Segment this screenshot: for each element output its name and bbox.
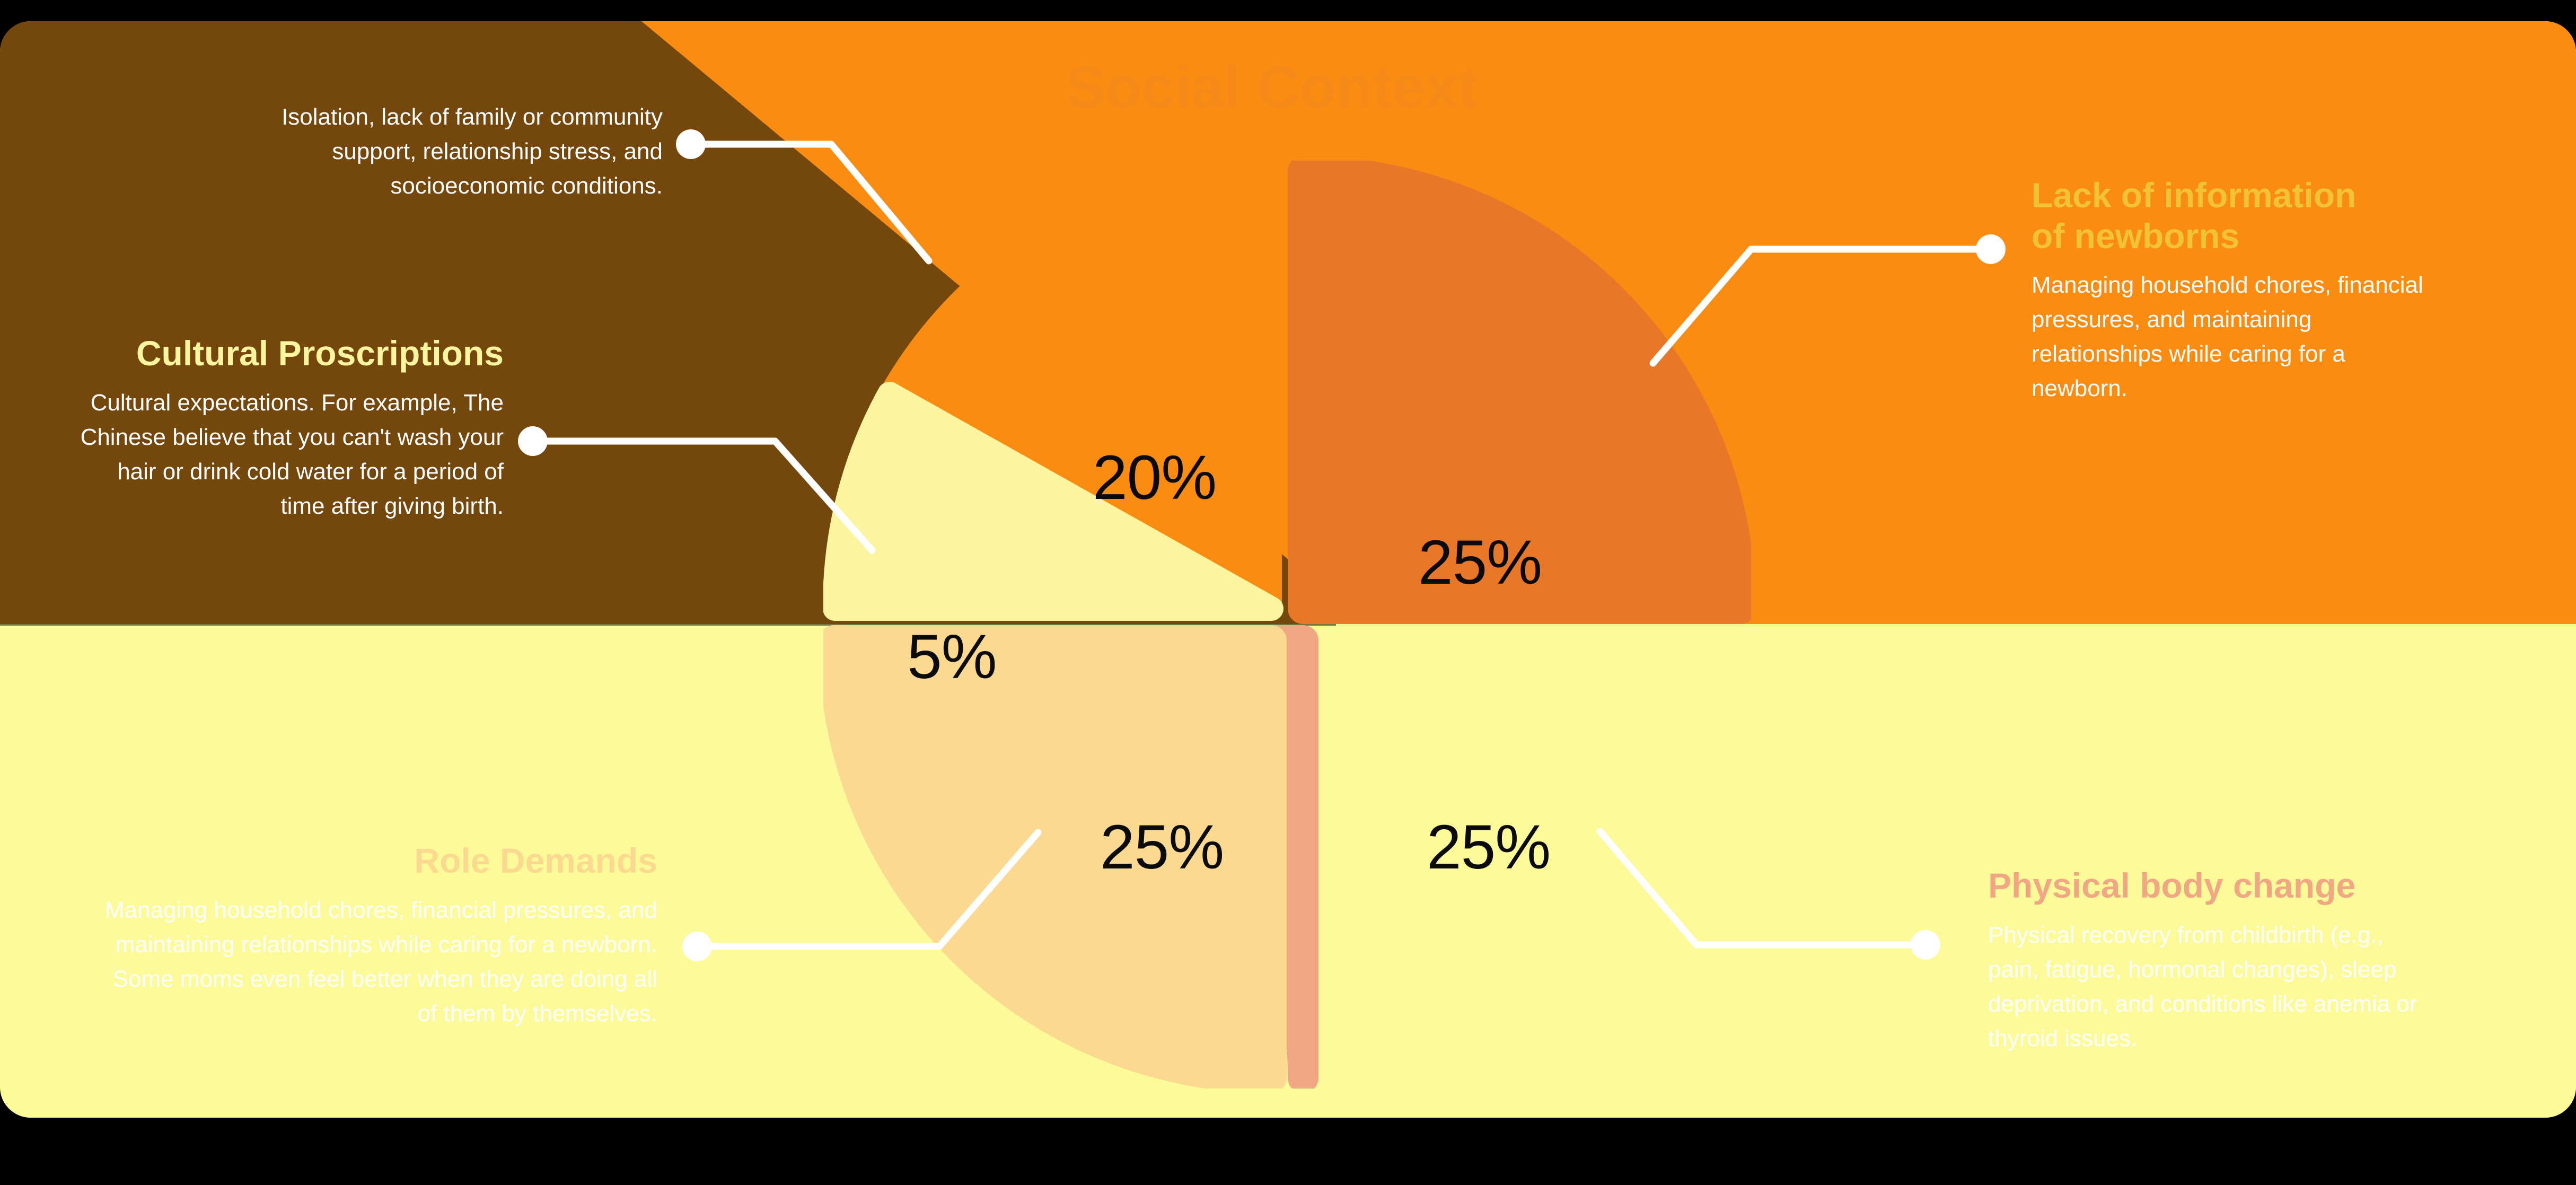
callout-lack-of-information[interactable]: Lack of information of newborns Managing… [2032,175,2434,406]
callout-lack-of-information-body: Managing household chores, financial pre… [2032,268,2434,406]
callout-role-demands-body: Managing household chores, financial pre… [95,893,657,1031]
slice-label-social-context: 20% [1093,442,1216,514]
callout-lack-of-information-title: Lack of information of newborns [2032,175,2434,256]
infographic-card: Social Context 20% 5% 25% 25% 25% [0,21,2576,1118]
callout-social-context-body: Isolation, lack of family or community s… [217,100,663,203]
slice-label-physical-body-change: 25% [1427,811,1550,883]
slice-label-cultural-proscriptions: 5% [907,621,997,693]
slice-label-lack-of-information: 25% [1418,526,1542,599]
callout-cultural-proscriptions-body: Cultural expectations. For example, The … [69,385,504,523]
callout-physical-body-change[interactable]: Physical body change Physical recovery f… [1988,865,2428,1056]
callout-physical-body-change-body: Physical recovery from childbirth (e.g.,… [1988,918,2428,1056]
callout-role-demands[interactable]: Role Demands Managing household chores, … [95,840,657,1031]
callout-cultural-proscriptions-title: Cultural Proscriptions [69,333,504,374]
slice-label-role-demands: 25% [1100,811,1224,883]
page-title: Social Context [1066,53,1478,121]
callout-physical-body-change-title: Physical body change [1988,865,2428,906]
callout-role-demands-title: Role Demands [95,840,657,881]
callout-social-context[interactable]: Isolation, lack of family or community s… [217,100,663,203]
pie-chart: 20% 5% 25% 25% 25% [823,161,1751,1089]
callout-cultural-proscriptions[interactable]: Cultural Proscriptions Cultural expectat… [69,333,504,523]
